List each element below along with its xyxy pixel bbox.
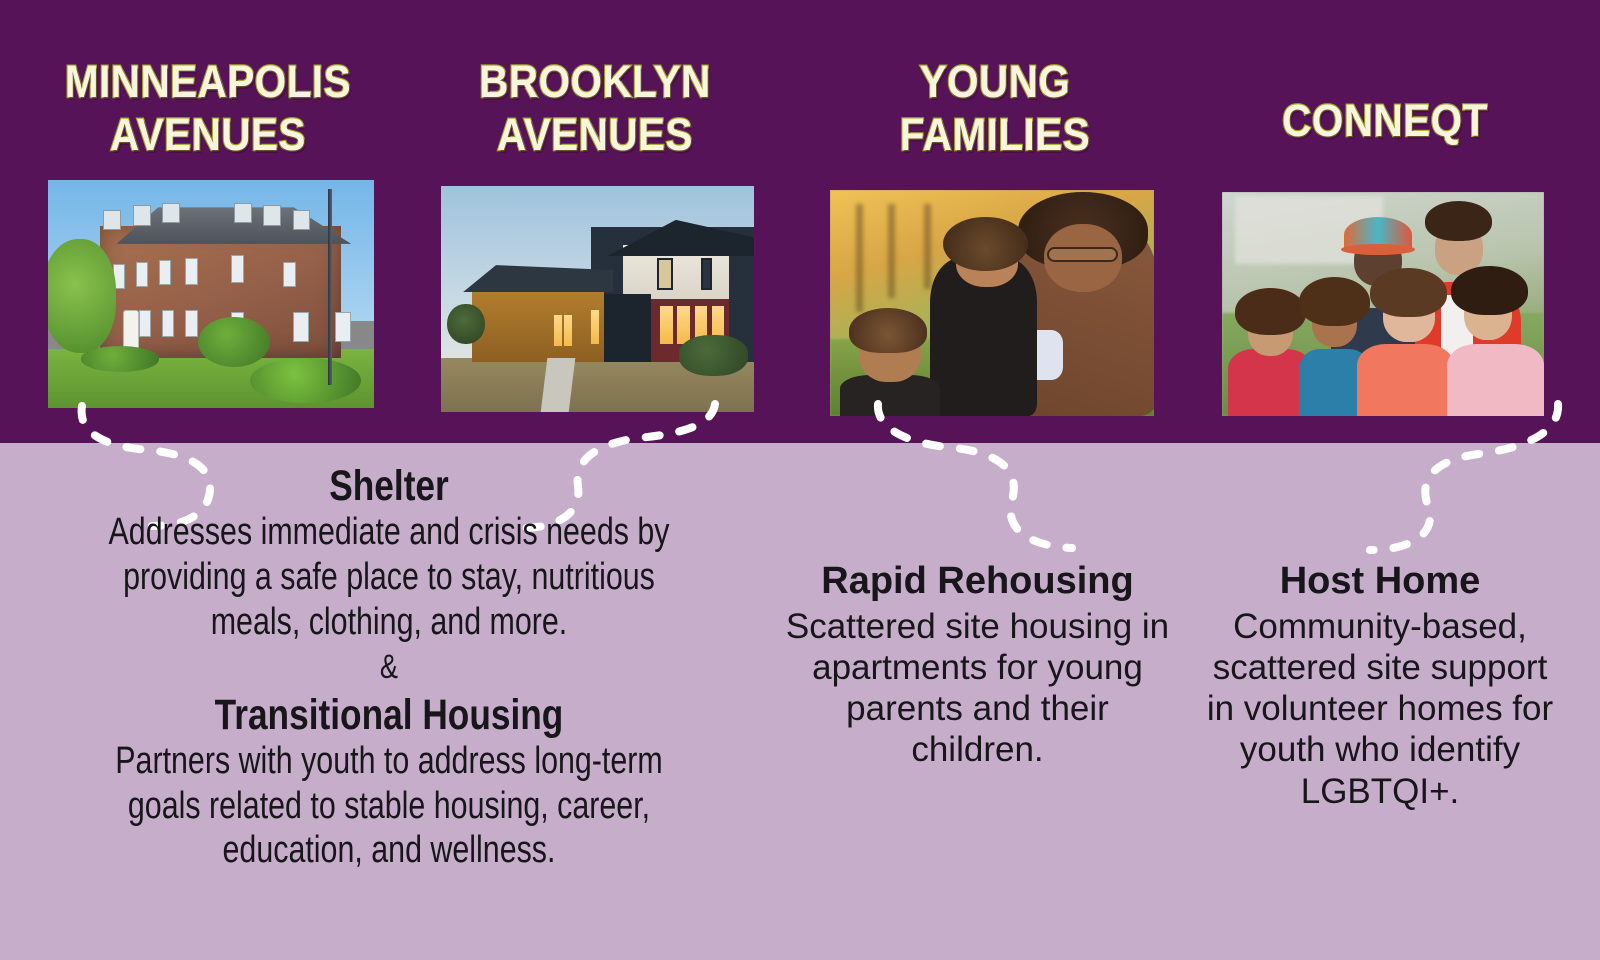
program-title-young-families: YOUNG FAMILIES	[847, 55, 1144, 161]
photo-conneqt-group	[1222, 192, 1544, 416]
photo-minneapolis-avenues-building	[48, 180, 374, 408]
description-rapid-rehousing: Rapid Rehousing Scattered site housing i…	[785, 560, 1170, 771]
heading-rapid-rehousing: Rapid Rehousing	[785, 560, 1170, 603]
heading-transitional-housing: Transitional Housing	[85, 691, 693, 739]
ampersand-separator: &	[92, 645, 686, 691]
body-host-home: Community-based, scattered site support …	[1195, 606, 1565, 812]
description-host-home: Host Home Community-based, scattered sit…	[1195, 560, 1565, 812]
description-shelter-transitional: Shelter Addresses immediate and crisis n…	[18, 462, 760, 873]
body-rapid-rehousing: Scattered site housing in apartments for…	[785, 606, 1170, 771]
photo-young-families-mother-children	[830, 190, 1154, 416]
heading-host-home: Host Home	[1195, 560, 1565, 603]
body-transitional-housing: Partners with youth to address long-term…	[92, 739, 686, 873]
infographic-canvas: MINNEAPOLIS AVENUES BROOKLYN AVENUES YOU…	[0, 0, 1600, 960]
photo-brooklyn-avenues-house	[441, 186, 754, 412]
program-title-minneapolis-avenues: MINNEAPOLIS AVENUES	[46, 55, 370, 161]
body-shelter: Addresses immediate and crisis needs by …	[92, 510, 686, 644]
heading-shelter: Shelter	[85, 462, 693, 510]
program-title-brooklyn-avenues: BROOKLYN AVENUES	[447, 55, 744, 161]
program-title-conneqt: CONNEQT	[1232, 94, 1538, 147]
